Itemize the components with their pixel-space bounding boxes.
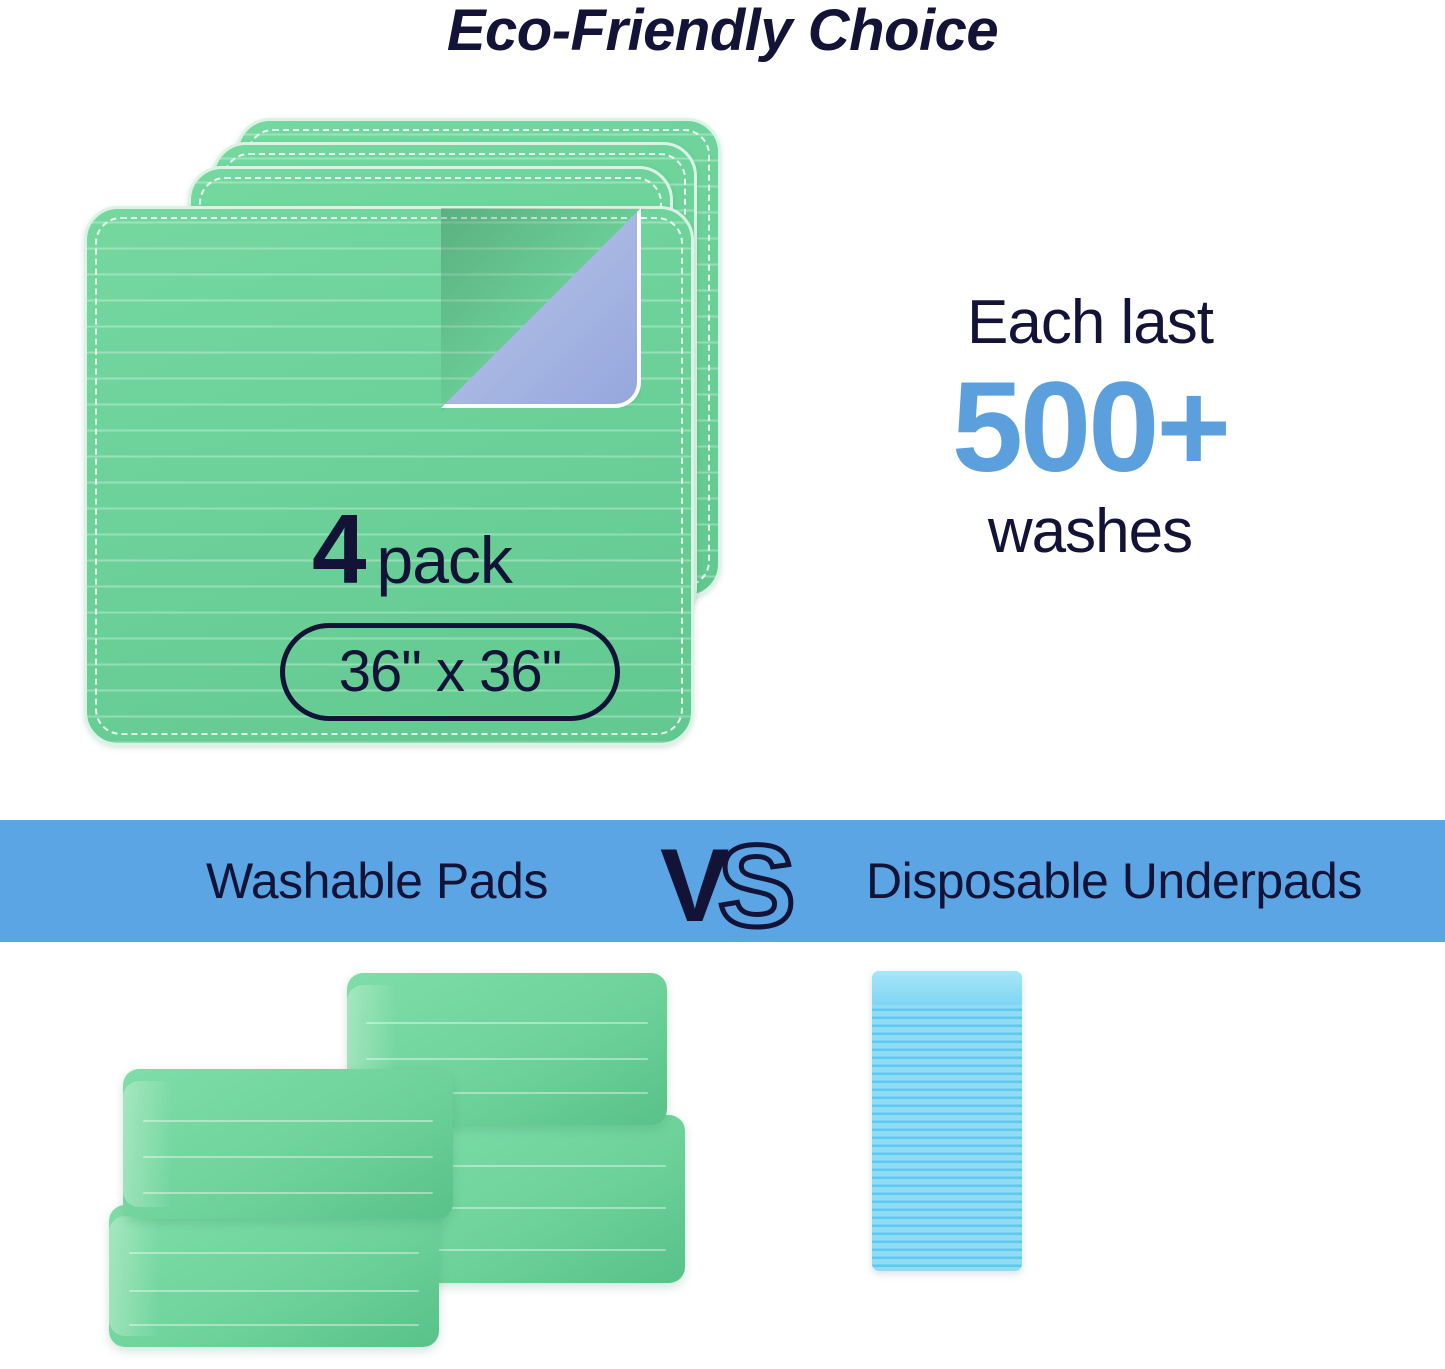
size-badge-label: 36" x 36": [339, 643, 561, 701]
fold-ridge: [143, 1192, 433, 1194]
fold-ridge: [143, 1120, 433, 1122]
pack-count-word: pack: [377, 527, 512, 593]
fold-lip: [123, 1081, 182, 1207]
folded-pad-bundle: [123, 1069, 453, 1219]
comparison-banner: Washable Pads V S Disposable Underpads: [0, 820, 1445, 942]
fold-ridge: [366, 1058, 648, 1060]
fold-ridge: [129, 1324, 419, 1326]
banner-label-washable: Washable Pads: [206, 820, 548, 942]
folded-corner-backing: [441, 208, 641, 408]
claim-line-top: Each last: [880, 286, 1300, 360]
stack-top-cap: [872, 971, 1022, 1005]
banner-label-disposable: Disposable Underpads: [866, 820, 1362, 942]
fold-lip: [109, 1216, 168, 1335]
washable-pads-photo: [95, 965, 715, 1355]
disposable-pad-stack: [872, 971, 1022, 1271]
versus-s-glyph: S: [718, 828, 795, 944]
page-title: Eco-Friendly Choice: [0, 0, 1445, 62]
folded-pad-bundle: [109, 1205, 439, 1347]
durability-claim: Each last 500+ washes: [880, 286, 1300, 568]
fold-ridge: [366, 1022, 648, 1024]
fold-ridge: [129, 1252, 419, 1254]
size-badge: 36" x 36": [280, 623, 620, 721]
fold-ridge: [129, 1290, 419, 1292]
waterproof-backing-flap: [441, 208, 641, 408]
claim-wash-count: 500+: [880, 360, 1300, 496]
fold-ridge: [143, 1156, 433, 1158]
pack-count-label: 4 pack: [312, 500, 512, 598]
versus-icon: V S: [660, 828, 830, 940]
claim-line-bottom: washes: [880, 496, 1300, 568]
pack-count-number: 4: [312, 500, 365, 598]
hero-pad-stack: 4 pack 36" x 36": [84, 118, 724, 748]
disposable-underpads-photo: [862, 965, 1382, 1355]
